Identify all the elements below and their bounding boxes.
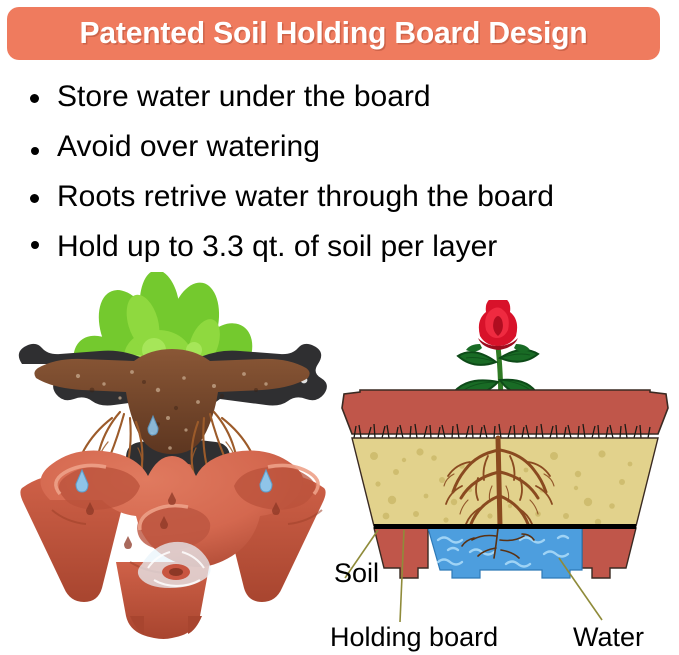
- callout-label-holding-board: Holding board: [330, 622, 498, 653]
- bullet-dot-icon: [31, 241, 39, 249]
- bullet-dot-icon: [30, 94, 39, 103]
- holding-board-line: [374, 524, 636, 529]
- stackable-planter-icon: [20, 451, 325, 640]
- callout-label-water: Water: [573, 622, 644, 653]
- bullet-dot-icon: [31, 147, 39, 155]
- feature-list: Store water under the board Avoid over w…: [22, 72, 662, 272]
- feature-text: Store water under the board: [57, 80, 431, 113]
- pot-rim: [342, 390, 668, 434]
- page-title: Patented Soil Holding Board Design: [17, 7, 650, 60]
- header-banner: Patented Soil Holding Board Design: [7, 7, 660, 60]
- feature-text: Hold up to 3.3 qt. of soil per layer: [57, 230, 497, 263]
- water-reservoir: [374, 528, 636, 578]
- callout-label-soil: Soil: [334, 558, 379, 589]
- bullet-dot-icon: [30, 194, 39, 203]
- list-item: Roots retrive water through the board: [22, 172, 662, 222]
- list-item: Hold up to 3.3 qt. of soil per layer: [22, 222, 662, 272]
- cross-section-diagram: [330, 300, 679, 590]
- feature-text: Avoid over watering: [57, 130, 320, 163]
- list-item: Avoid over watering: [22, 122, 662, 172]
- product-photo: [8, 272, 338, 647]
- feature-text: Roots retrive water through the board: [57, 180, 554, 213]
- list-item: Store water under the board: [22, 72, 662, 122]
